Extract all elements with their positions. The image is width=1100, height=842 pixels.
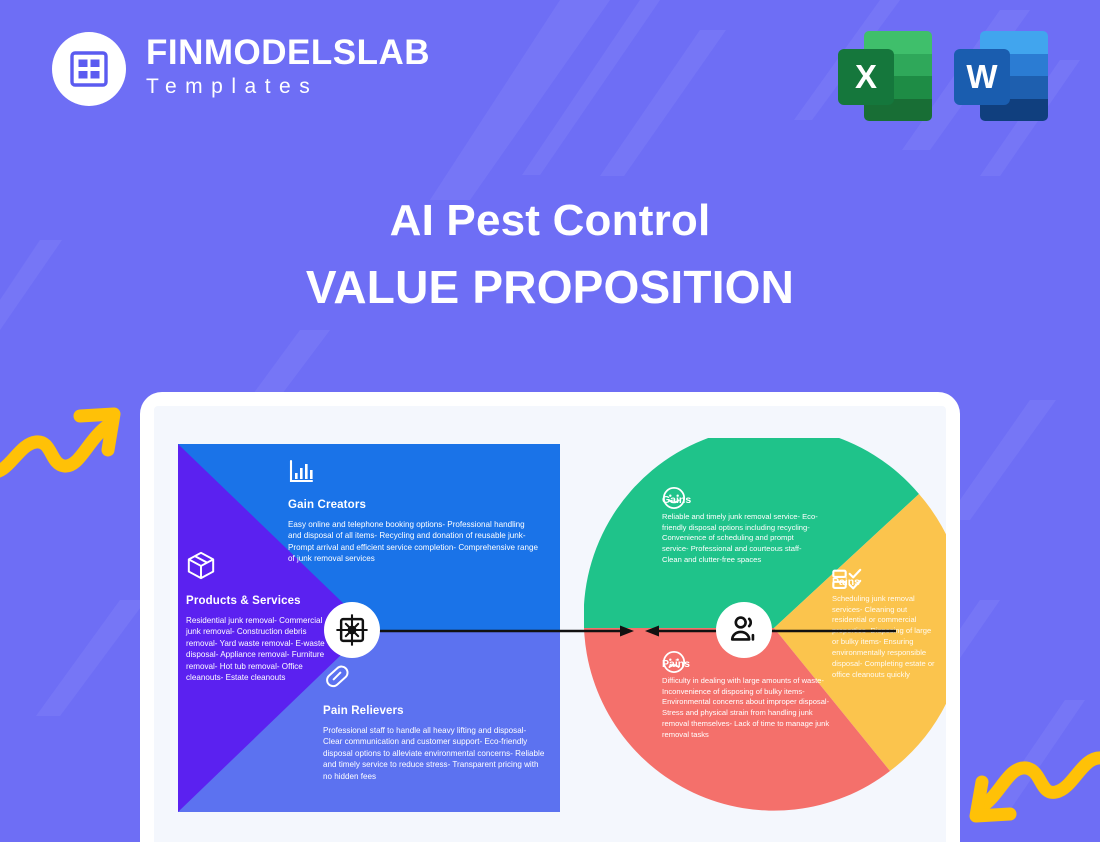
profile-title: Pains [662,658,834,671]
grid-squares-icon [69,49,109,89]
excel-icon[interactable]: X [838,27,932,125]
profile-cell-pains: Pains Difficulty in dealing with large a… [662,650,834,741]
value-map-center-bubble [324,602,380,658]
brand-subtitle: Templates [146,71,430,103]
title-block: AI Pest Control VALUE PROPOSITION [0,196,1100,313]
value-map-body: Residential junk removal- Commercial jun… [186,615,331,684]
people-users-icon [728,614,760,646]
page-title: AI Pest Control [0,196,1100,247]
app-icons-group: X W [838,27,1048,125]
double-headed-arrow [376,620,896,642]
value-map-title: Pain Relievers [323,705,545,719]
excel-letter: X [838,49,894,105]
brand-logo: FINMODELSLAB Templates [52,32,430,106]
bar-chart-icon [288,458,540,489]
box-package-icon [186,550,331,585]
profile-body: Difficulty in dealing with large amounts… [662,676,834,742]
laptop-screen: Gain Creators Easy online and telephone … [154,406,946,842]
laptop-frame: Gain Creators Easy online and telephone … [140,392,960,842]
squiggle-arrow-down-left-icon [958,748,1100,840]
value-map-cell-gain-creators: Gain Creators Easy online and telephone … [288,458,540,565]
slide-canvas: FINMODELSLAB Templates X W AI Pest Contr… [0,0,1100,842]
profile-body: Reliable and timely junk removal service… [662,512,822,567]
value-map-title: Gain Creators [288,499,540,513]
word-letter: W [954,49,1010,105]
page-subtitle: VALUE PROPOSITION [0,261,1100,314]
value-map-title: Products & Services [186,595,331,609]
profile-cell-gains: Gains Reliable and timely junk removal s… [662,486,822,566]
squiggle-arrow-up-right-icon [0,398,128,488]
value-map-cell-products-services: Products & Services Residential junk rem… [186,550,331,684]
brand-name: FINMODELSLAB [146,35,430,71]
word-icon[interactable]: W [954,27,1048,125]
value-map-body: Professional staff to handle all heavy l… [323,725,545,782]
brand-mark-circle [52,32,126,106]
pill-capsule-icon [323,662,545,695]
customer-profile-center-bubble [716,602,772,658]
profile-title: Gains [662,494,822,507]
value-map-cell-pain-relievers: Pain Relievers Professional staff to han… [323,662,545,782]
gift-box-target-icon [335,613,369,647]
